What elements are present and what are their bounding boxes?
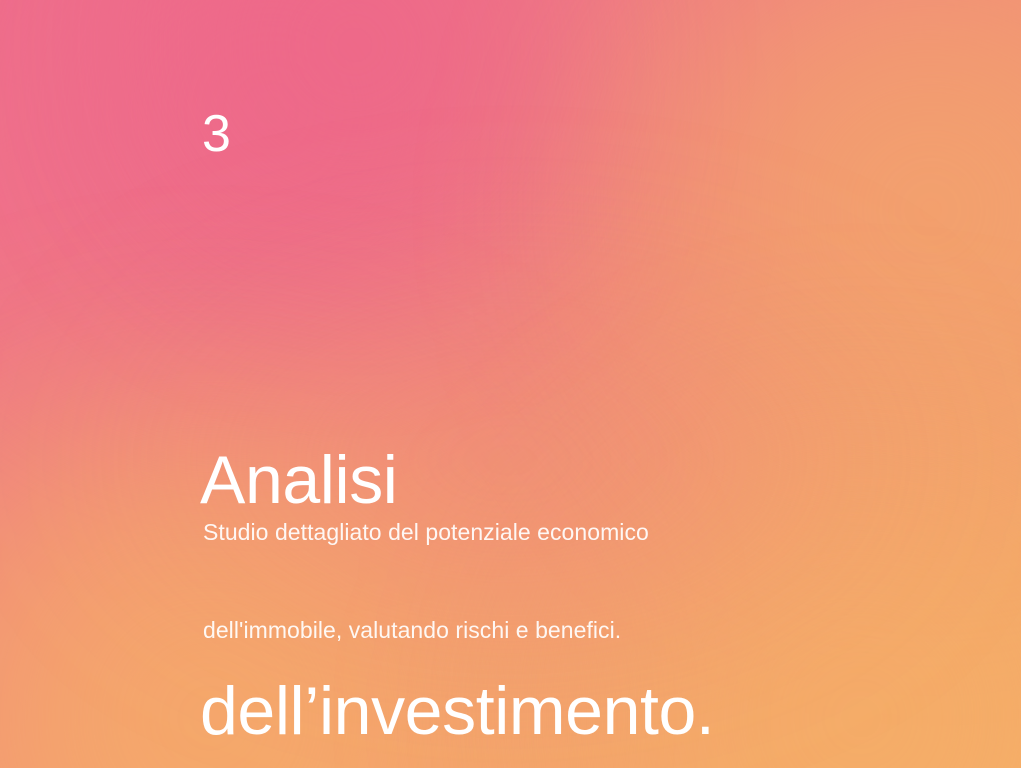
section-number: 3 [202,108,231,160]
slide-subtitle-line-1: Studio dettagliato del potenziale econom… [203,516,649,549]
slide-content: 3 Analisi dell’investimento. Studio dett… [0,0,1021,768]
slide-subtitle: Studio dettagliato del potenziale econom… [203,451,649,712]
slide-subtitle-line-2: dell'immobile, valutando rischi e benefi… [203,614,649,647]
presentation-slide: 3 Analisi dell’investimento. Studio dett… [0,0,1021,768]
